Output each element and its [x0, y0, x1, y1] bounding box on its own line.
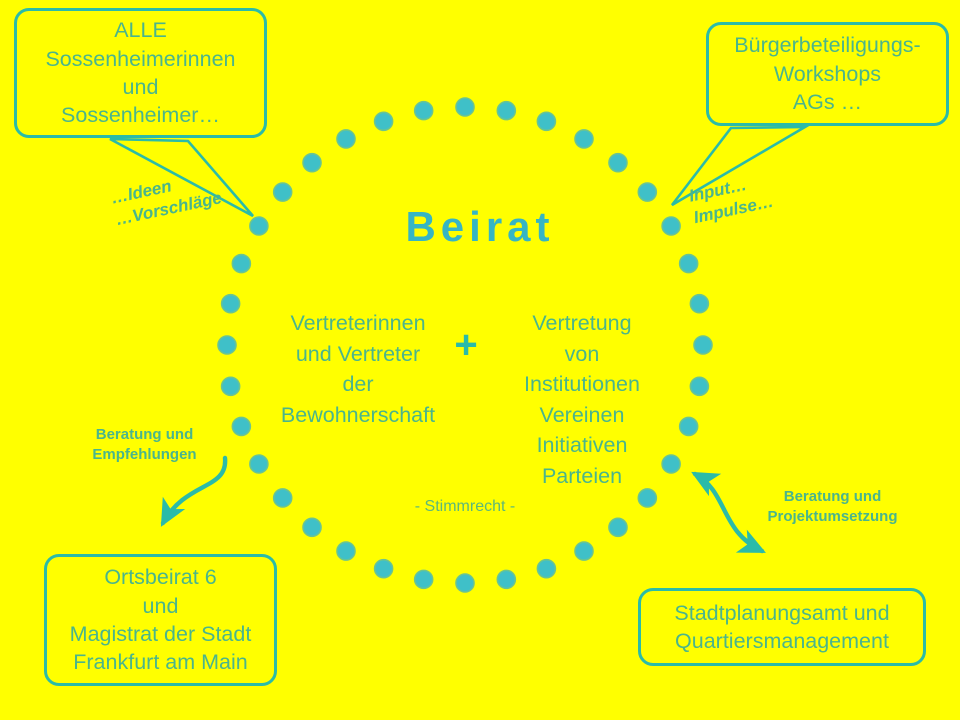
ring-dot — [638, 489, 656, 507]
plus-icon: + — [442, 325, 490, 365]
ring-dot — [274, 183, 292, 201]
ring-dot — [575, 542, 593, 560]
ring-dot — [375, 112, 393, 130]
ring-dot — [415, 570, 433, 588]
ring-dot — [456, 98, 474, 116]
ring-dot — [497, 102, 515, 120]
center-column-right: Vertretung von Institutionen Vereinen In… — [492, 308, 672, 491]
bubble-stadtplanungsamt-quartiersmanagement: Stadtplanungsamt und Quartiersmanagement — [638, 588, 926, 666]
ring-dot — [222, 377, 240, 395]
diagram-canvas: Beirat Vertreterinnen und Vertreter der … — [0, 0, 960, 720]
ring-dot — [337, 130, 355, 148]
label-beratung-empfehlungen: Beratung und Empfehlungen — [62, 425, 227, 464]
ring-dot — [690, 295, 708, 313]
ring-dot — [232, 255, 250, 273]
label-beratung-projektumsetzung: Beratung und Projektumsetzung — [740, 487, 925, 526]
ring-dot — [537, 560, 555, 578]
stimmrecht-label: - Stimmrecht - — [330, 498, 600, 516]
bubble-ortsbeirat-magistrat: Ortsbeirat 6 und Magistrat der Stadt Fra… — [44, 554, 277, 686]
ring-dot — [497, 570, 515, 588]
ring-dot — [222, 295, 240, 313]
bubble-stadtplanung-text: Stadtplanungsamt und Quartiersmanagement — [674, 599, 889, 656]
bubble-workshops-text: Bürgerbeteiligungs- Workshops AGs … — [734, 31, 920, 116]
ring-dot — [456, 574, 474, 592]
ring-dot — [609, 154, 627, 172]
bubble-alle-sossenheimer: ALLE Sossenheimerinnen und Sossenheimer… — [14, 8, 267, 138]
ring-dot — [638, 183, 656, 201]
ring-dot — [274, 489, 292, 507]
center-column-left: Vertreterinnen und Vertreter der Bewohne… — [268, 308, 448, 430]
ring-dot — [303, 154, 321, 172]
ring-dot — [415, 102, 433, 120]
ring-dot — [680, 255, 698, 273]
ring-dot — [694, 336, 712, 354]
ring-dot — [537, 112, 555, 130]
ring-dot — [337, 542, 355, 560]
bubble-buergerbeteiligungs-workshops: Bürgerbeteiligungs- Workshops AGs … — [706, 22, 949, 126]
bubble-alle-text: ALLE Sossenheimerinnen und Sossenheimer… — [45, 16, 235, 130]
ring-dot — [218, 336, 236, 354]
ring-dot — [303, 518, 321, 536]
arrow-beratung-empfehlungen — [163, 458, 225, 523]
ring-dot — [250, 455, 268, 473]
ring-dot — [575, 130, 593, 148]
ring-dot — [690, 377, 708, 395]
ring-dot — [375, 560, 393, 578]
bubble-ortsbeirat-text: Ortsbeirat 6 und Magistrat der Stadt Fra… — [70, 563, 252, 677]
ring-dot — [609, 518, 627, 536]
ring-dot — [680, 417, 698, 435]
ring-dot — [232, 417, 250, 435]
